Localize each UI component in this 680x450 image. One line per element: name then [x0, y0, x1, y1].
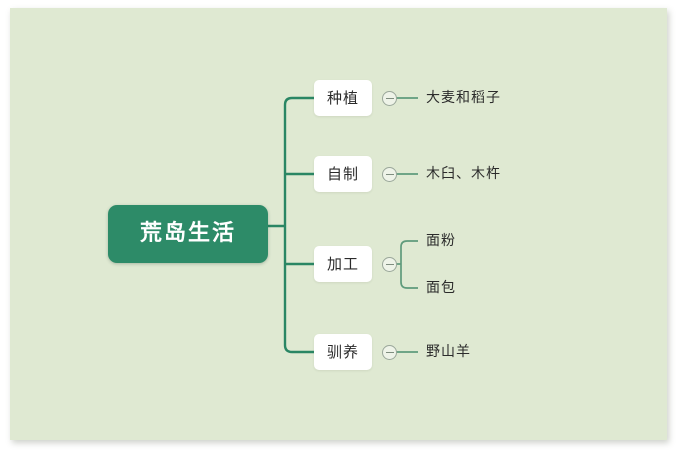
- leaf-label-flour[interactable]: 面粉: [426, 234, 456, 248]
- branch-node-label: 种植: [327, 91, 359, 106]
- trunk-arm-4: [285, 226, 314, 352]
- leaf-label-bread[interactable]: 面包: [426, 281, 456, 295]
- branch-node-label: 自制: [327, 167, 359, 182]
- branch-node-label: 加工: [327, 257, 359, 272]
- branch-node-domestication[interactable]: 驯养: [314, 334, 372, 370]
- subconnector-3-2: [401, 264, 418, 288]
- branch-node-label: 驯养: [327, 345, 359, 360]
- leaf-label-mortar-pestle[interactable]: 木臼、木杵: [426, 167, 501, 181]
- minus-circle-icon[interactable]: [382, 257, 397, 272]
- subconnector-3-1: [401, 241, 418, 264]
- mindmap-canvas[interactable]: 荒岛生活 种植 大麦和稻子 自制 木臼、木杵 加工 面粉 面包 驯养 野山羊: [10, 8, 667, 440]
- central-node[interactable]: 荒岛生活: [108, 205, 268, 263]
- minus-circle-icon[interactable]: [382, 91, 397, 106]
- leaf-label-wild-goat[interactable]: 野山羊: [426, 345, 471, 359]
- trunk-arm-1: [285, 98, 314, 226]
- branch-node-handmade[interactable]: 自制: [314, 156, 372, 192]
- minus-circle-icon[interactable]: [382, 167, 397, 182]
- central-node-label: 荒岛生活: [140, 223, 236, 245]
- branch-node-planting[interactable]: 种植: [314, 80, 372, 116]
- minus-circle-icon[interactable]: [382, 345, 397, 360]
- branch-node-processing[interactable]: 加工: [314, 246, 372, 282]
- screenshot-root: 荒岛生活 种植 大麦和稻子 自制 木臼、木杵 加工 面粉 面包 驯养 野山羊: [0, 0, 680, 450]
- leaf-label-barley-rice[interactable]: 大麦和稻子: [426, 91, 501, 105]
